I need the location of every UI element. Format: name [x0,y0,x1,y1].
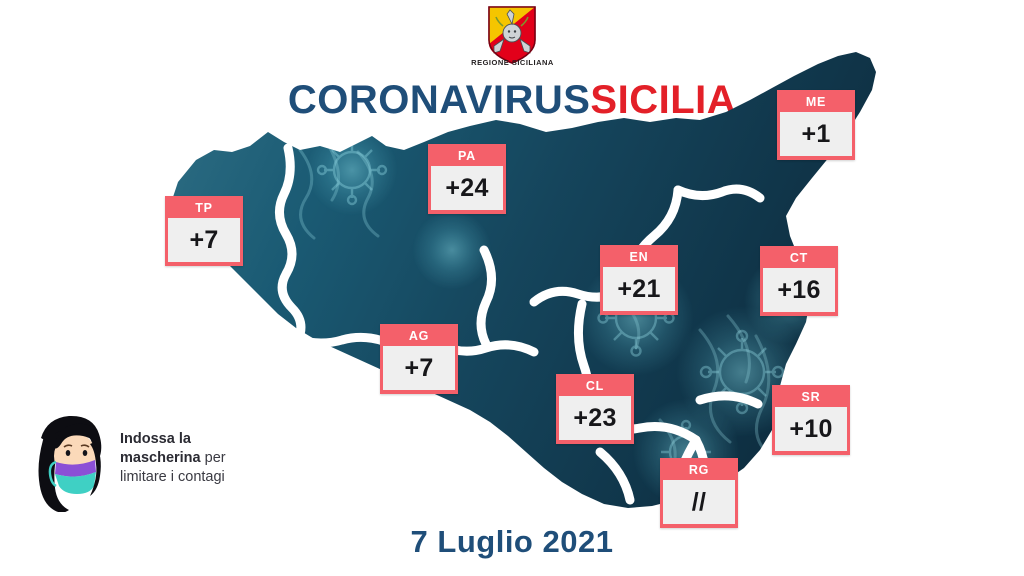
face-mask-illustration-icon [25,412,117,512]
province-value: // [663,480,735,524]
province-value: +23 [559,396,631,440]
province-box-cl[interactable]: CL +23 [556,374,634,444]
province-value: +7 [168,218,240,262]
mask-notice-line1: Indossa la [120,431,191,447]
province-code: CL [559,377,631,396]
province-code: TP [168,199,240,218]
province-box-ct[interactable]: CT +16 [760,246,838,316]
mask-notice-line2-bold: mascherina [120,450,201,466]
province-box-ag[interactable]: AG +7 [380,324,458,394]
province-box-sr[interactable]: SR +10 [772,385,850,455]
province-value: +10 [775,407,847,451]
mask-notice: Indossa la mascherina per limitare i con… [25,412,285,512]
mask-notice-line2-light: per [201,450,226,466]
date-label: 7 Luglio 2021 [0,524,1024,560]
province-code: EN [603,248,675,267]
province-value: +24 [431,166,503,210]
province-value: +21 [603,267,675,311]
province-value: +16 [763,268,835,312]
province-code: AG [383,327,455,346]
province-code: SR [775,388,847,407]
province-code: ME [780,93,852,112]
province-box-me[interactable]: ME +1 [777,90,855,160]
province-box-en[interactable]: EN +21 [600,245,678,315]
province-value: +1 [780,112,852,156]
province-value: +7 [383,346,455,390]
province-code: RG [663,461,735,480]
province-box-pa[interactable]: PA +24 [428,144,506,214]
province-box-rg[interactable]: RG // [660,458,738,528]
province-box-tp[interactable]: TP +7 [165,196,243,266]
infographic-root: REGIONE SICILIANA CORONAVIRUSSICILIA [0,0,1024,576]
mask-notice-text: Indossa la mascherina per limitare i con… [120,430,295,487]
province-code: CT [763,249,835,268]
province-code: PA [431,147,503,166]
mask-notice-line3: limitare i contagi [120,469,225,485]
